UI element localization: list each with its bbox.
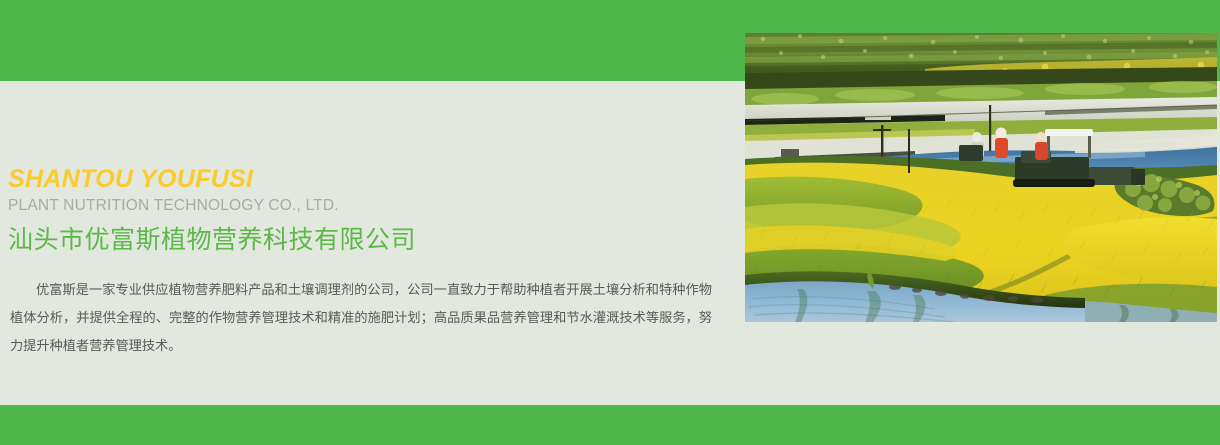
brand-name-english: SHANTOU YOUFUSI — [8, 165, 708, 194]
brand-name-english-subtitle: PLANT NUTRITION TECHNOLOGY CO., LTD. — [8, 196, 708, 217]
photo-illustration — [745, 33, 1217, 322]
left-text-column: SHANTOU YOUFUSI PLANT NUTRITION TECHNOLO… — [0, 0, 740, 405]
footer-green-bar — [0, 405, 1220, 445]
company-intro-paragraph: 优富斯是一家专业供应植物营养肥料产品和土壤调理剂的公司，公司一直致力于帮助种植者… — [10, 277, 712, 361]
company-intro-page: SHANTOU YOUFUSI PLANT NUTRITION TECHNOLO… — [0, 0, 1220, 445]
rice-paddy-harvest-photo — [745, 33, 1217, 322]
brand-name-chinese: 汕头市优富斯植物营养科技有限公司 — [8, 223, 708, 257]
brand-block: SHANTOU YOUFUSI PLANT NUTRITION TECHNOLO… — [8, 165, 708, 256]
